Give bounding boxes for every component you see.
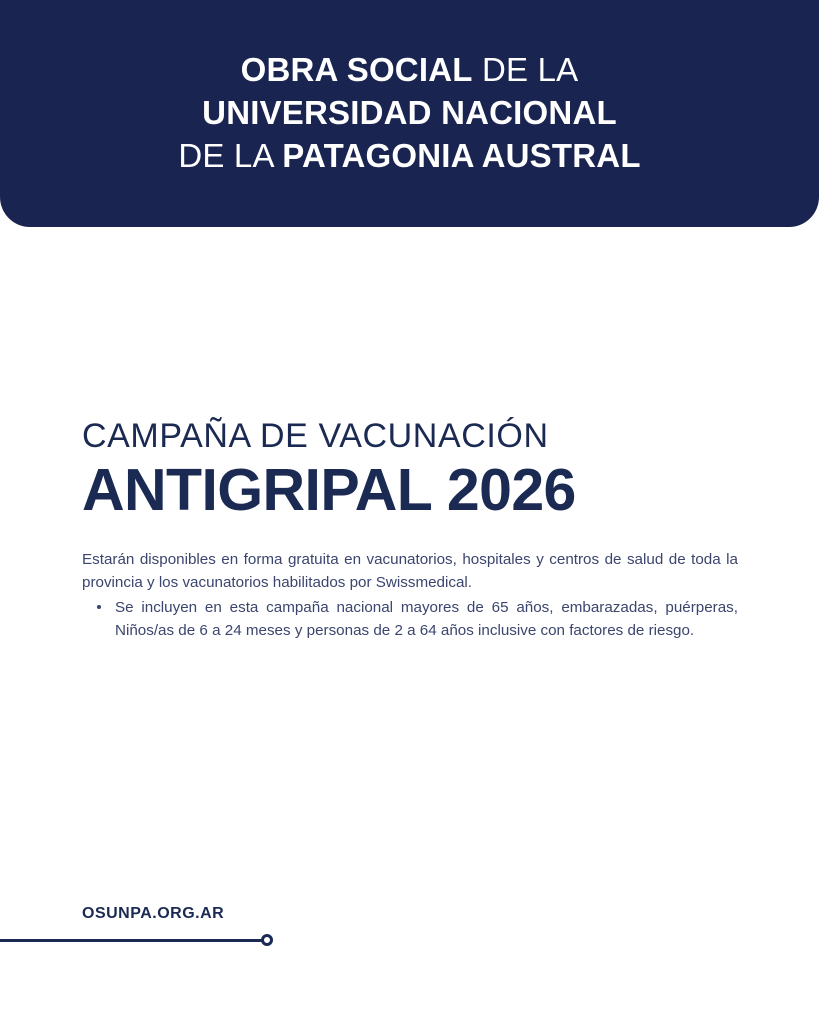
footer-endpoint-circle-icon bbox=[261, 934, 273, 946]
body-copy: Estarán disponibles en forma gratuita en… bbox=[82, 548, 738, 594]
org-title-line-3: DE LA PATAGONIA AUSTRAL bbox=[178, 134, 640, 177]
header-banner: OBRA SOCIAL DE LA UNIVERSIDAD NACIONAL D… bbox=[0, 0, 819, 227]
footer-rule-divider bbox=[0, 939, 264, 942]
footer: OSUNPA.ORG.AR bbox=[0, 905, 819, 965]
org-title-line-1: OBRA SOCIAL DE LA bbox=[241, 48, 579, 91]
footer-website-url[interactable]: OSUNPA.ORG.AR bbox=[82, 905, 224, 923]
org-title-line-2: UNIVERSIDAD NACIONAL bbox=[202, 91, 617, 134]
campaign-kicker: CAMPAÑA DE VACUNACIÓN bbox=[82, 416, 738, 456]
org-title-line-1-bold: OBRA SOCIAL bbox=[241, 51, 473, 88]
org-title-line-3-bold: PATAGONIA AUSTRAL bbox=[282, 137, 640, 174]
bullet-dot-icon bbox=[97, 605, 101, 609]
org-title-line-2-bold: UNIVERSIDAD NACIONAL bbox=[202, 94, 617, 131]
body-paragraph: Estarán disponibles en forma gratuita en… bbox=[82, 548, 738, 594]
inclusion-bullet-list: Se incluyen en esta campaña nacional may… bbox=[82, 596, 738, 642]
list-item: Se incluyen en esta campaña nacional may… bbox=[82, 596, 738, 642]
main-content: CAMPAÑA DE VACUNACIÓN ANTIGRIPAL 2026 Es… bbox=[82, 416, 738, 642]
org-title-line-3-light: DE LA bbox=[178, 137, 282, 174]
org-title-line-1-light: DE LA bbox=[473, 51, 579, 88]
list-item-label: Se incluyen en esta campaña nacional may… bbox=[115, 599, 738, 639]
campaign-title: ANTIGRIPAL 2026 bbox=[82, 458, 738, 522]
